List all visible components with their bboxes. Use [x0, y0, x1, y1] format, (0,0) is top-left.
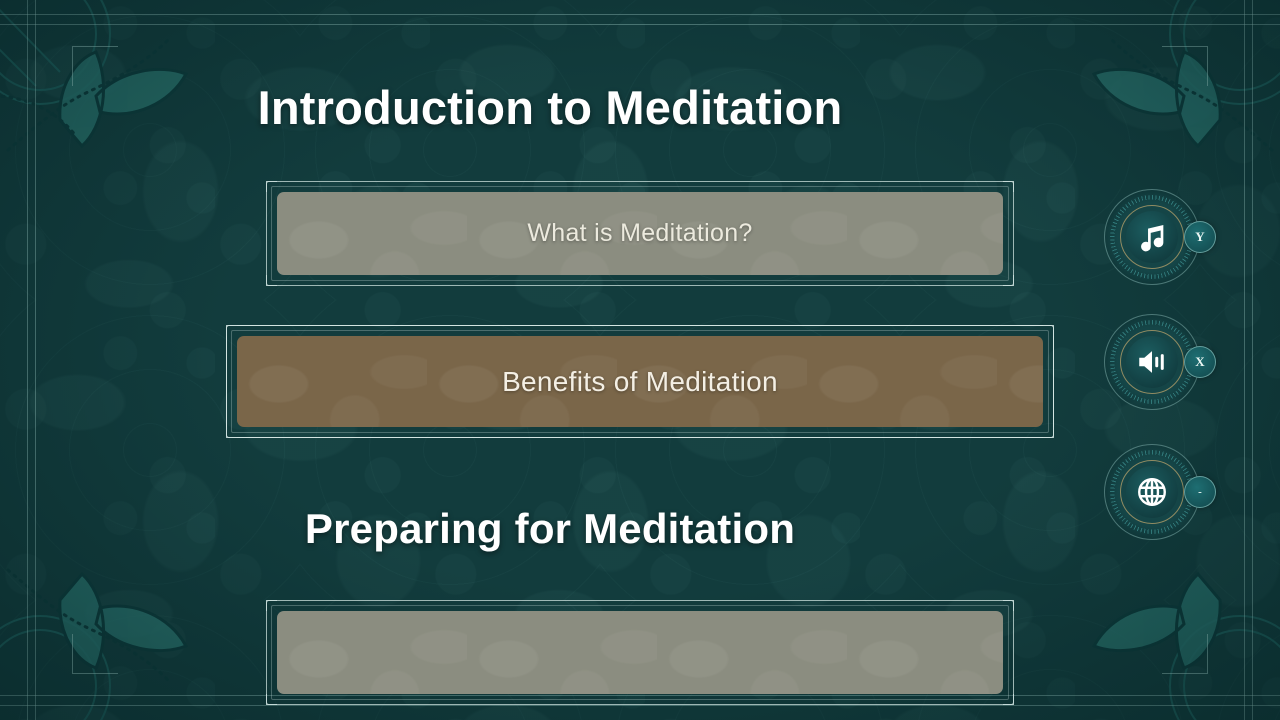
control-core — [1126, 466, 1178, 518]
frame-notch-icon — [226, 427, 237, 438]
frame-notch-icon — [226, 325, 237, 336]
frame-notch-icon — [1003, 694, 1014, 705]
section-heading-introduction: Introduction to Meditation — [0, 80, 1100, 135]
frame-notch-icon — [1003, 600, 1014, 611]
frame-notch-icon — [266, 181, 277, 192]
control-core — [1126, 211, 1178, 263]
menu-item-label: Benefits of Meditation — [502, 366, 778, 398]
frame-notch-icon — [1043, 427, 1054, 438]
frame-notch-icon — [1043, 325, 1054, 336]
language-selector-badge: - — [1184, 476, 1216, 508]
globe-language-icon — [1135, 475, 1169, 509]
frame-notch-icon — [1003, 275, 1014, 286]
menu-item-benefits-of-meditation[interactable]: Benefits of Meditation — [226, 325, 1054, 438]
language-selector-button[interactable]: - — [1104, 444, 1200, 540]
frame-notch-icon — [266, 600, 277, 611]
menu-item-label: What is Meditation? — [527, 219, 752, 248]
button-fill: What is Meditation? — [277, 192, 1003, 275]
frame-notch-icon — [266, 694, 277, 705]
control-core — [1126, 336, 1178, 388]
section-heading-preparing: Preparing for Meditation — [0, 505, 1100, 553]
menu-item-preparing-first[interactable] — [266, 600, 1014, 705]
sound-toggle-button[interactable]: X — [1104, 314, 1200, 410]
button-fill-selected: Benefits of Meditation — [237, 336, 1043, 427]
button-fill — [277, 611, 1003, 694]
sound-toggle-badge: X — [1184, 346, 1216, 378]
music-note-icon — [1135, 220, 1169, 254]
speaker-volume-icon — [1135, 345, 1169, 379]
menu-item-what-is-meditation[interactable]: What is Meditation? — [266, 181, 1014, 286]
music-toggle-button[interactable]: Y — [1104, 189, 1200, 285]
music-toggle-badge: Y — [1184, 221, 1216, 253]
frame-notch-icon — [1003, 181, 1014, 192]
frame-notch-icon — [266, 275, 277, 286]
menu-stage: Introduction to Meditation What is Medit… — [0, 0, 1280, 720]
